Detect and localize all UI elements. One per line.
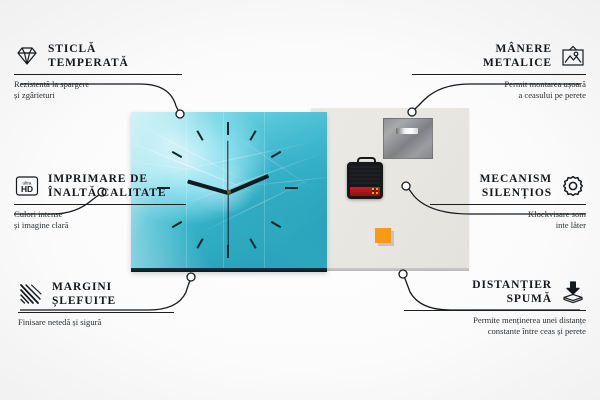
feature-title: DISTANȚIER SPUMĂ	[472, 278, 552, 306]
feature-subtitle: Klockvisare som inte låter	[430, 209, 586, 230]
feature-title: MECANISM SILENȚIOS	[480, 172, 552, 200]
feature-subtitle: Finisare netedă și sigură	[18, 317, 174, 328]
feature-header: DISTANȚIER SPUMĂ	[404, 278, 586, 306]
feature-title: IMPRIMARE DE ÎNALTĂ CALITATE	[48, 172, 166, 200]
feature-divider	[404, 310, 586, 311]
feature-polished-edges: MARGINI ȘLEFUITE Finisare netedă și sigu…	[18, 280, 174, 328]
feature-header: ultra HD IMPRIMARE DE ÎNALTĂ CALITATE	[14, 172, 186, 200]
feature-divider	[14, 204, 186, 205]
gear-icon	[560, 174, 586, 198]
feature-subtitle: Permite menținerea unei distanțe constan…	[404, 315, 586, 336]
callout-dot-edges	[187, 273, 195, 281]
feature-divider	[18, 312, 174, 313]
feature-title: STICLĂ TEMPERATĂ	[48, 42, 129, 70]
picture-hanger-icon	[560, 44, 586, 68]
infographic-stage: STICLĂ TEMPERATĂ Rezistentă la spargere …	[0, 0, 600, 400]
feature-header: MARGINI ȘLEFUITE	[18, 280, 174, 308]
feature-metal-hooks: MÂNERE METALICE Permit montarea ușoară a…	[412, 42, 586, 100]
feature-header: MECANISM SILENȚIOS	[430, 172, 586, 200]
feature-subtitle: Permit montarea ușoară a ceasului pe per…	[412, 79, 586, 100]
feature-divider	[14, 74, 182, 75]
feature-divider	[430, 204, 586, 205]
feature-subtitle: Rezistentă la spargere și zgârieturi	[14, 79, 182, 100]
feature-header: STICLĂ TEMPERATĂ	[14, 42, 182, 70]
polished-edges-icon	[18, 282, 44, 306]
callout-dot-hooks	[408, 108, 416, 116]
feature-title: MARGINI ȘLEFUITE	[52, 280, 116, 308]
callout-dot-spacer	[399, 270, 407, 278]
feature-title: MÂNERE METALICE	[483, 42, 552, 70]
callout-dot-mechanism	[402, 182, 410, 190]
feature-divider	[412, 74, 586, 75]
feature-header: MÂNERE METALICE	[412, 42, 586, 70]
ultra-hd-icon: ultra HD	[14, 174, 40, 198]
svg-text:HD: HD	[21, 184, 33, 194]
feature-high-quality-print: ultra HD IMPRIMARE DE ÎNALTĂ CALITATE Cu…	[14, 172, 186, 230]
foam-spacer-icon	[560, 280, 586, 304]
feature-silent-mechanism: MECANISM SILENȚIOS Klockvisare som inte …	[430, 172, 586, 230]
feature-subtitle: Culori intense și imagine clară	[14, 209, 186, 230]
feature-tempered-glass: STICLĂ TEMPERATĂ Rezistentă la spargere …	[14, 42, 182, 100]
callout-dot-glass	[176, 110, 184, 118]
diamond-icon	[14, 44, 40, 68]
feature-foam-spacer: DISTANȚIER SPUMĂ Permite menținerea unei…	[404, 278, 586, 336]
